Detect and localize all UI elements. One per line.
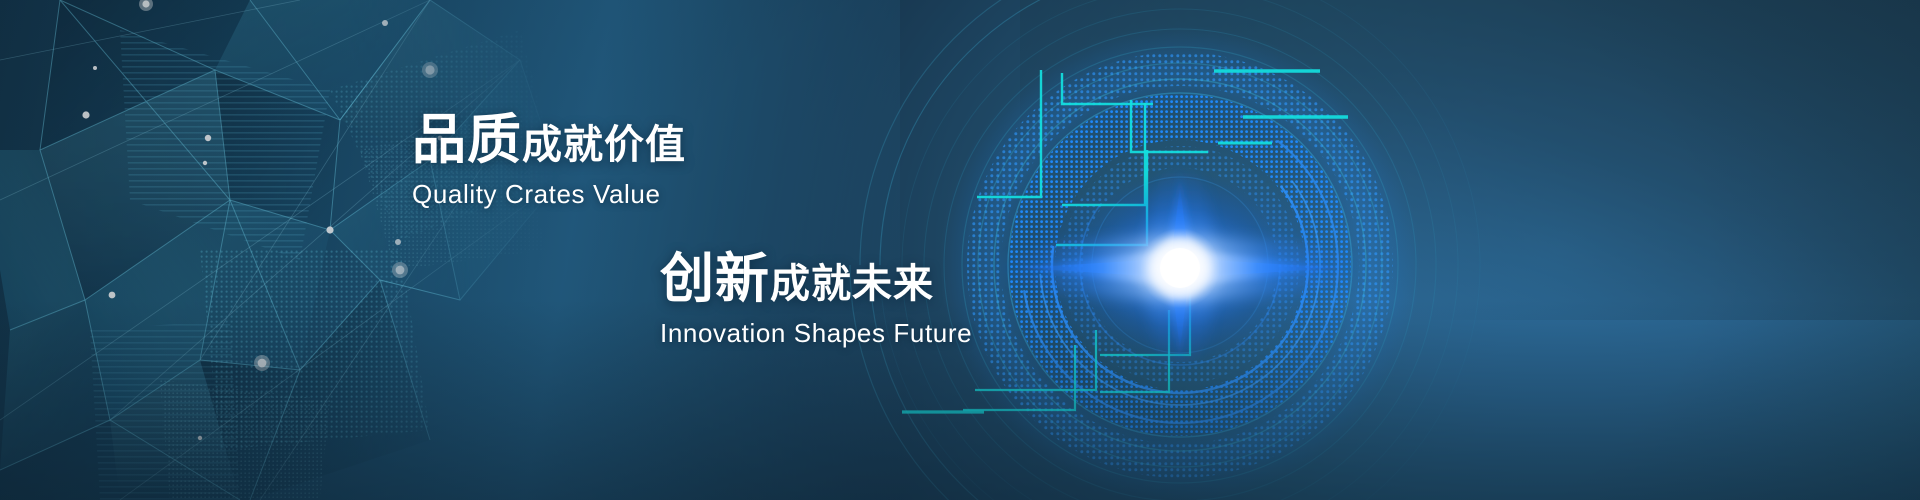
tagline-quality-chinese-tail: 成就价值 <box>522 122 686 168</box>
background-vignette <box>0 0 1920 500</box>
tagline-quality-english: Quality Crates Value <box>412 179 686 210</box>
tagline-quality: 品质成就价值 Quality Crates Value <box>412 113 686 210</box>
tagline-innovation: 创新成就未来 Innovation Shapes Future <box>660 252 972 349</box>
tagline-innovation-english: Innovation Shapes Future <box>660 318 972 349</box>
tagline-quality-chinese: 品质成就价值 <box>412 113 686 167</box>
tagline-innovation-chinese-tail: 成就未来 <box>770 261 934 307</box>
tagline-innovation-chinese: 创新成就未来 <box>660 252 972 306</box>
hero-banner: 品质成就价值 Quality Crates Value 创新成就未来 Innov… <box>0 0 1920 500</box>
tagline-quality-chinese-lead: 品质 <box>412 108 522 171</box>
tagline-innovation-chinese-lead: 创新 <box>660 247 770 310</box>
